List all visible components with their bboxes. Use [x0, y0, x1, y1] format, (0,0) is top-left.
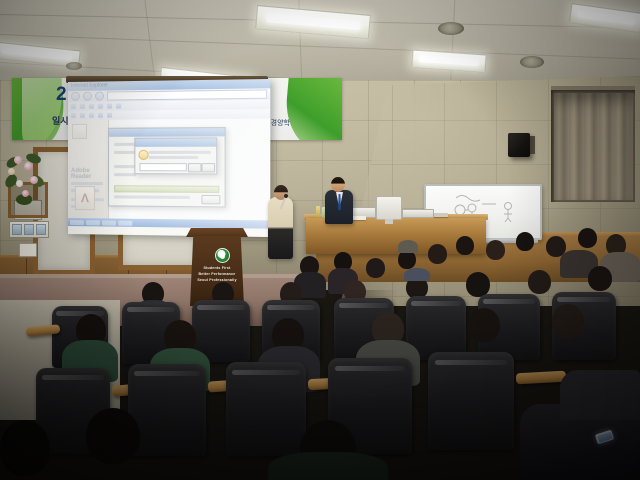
- toolbar-icon[interactable]: [107, 113, 112, 118]
- banner-subtitle: 일시: [52, 114, 69, 127]
- papers-on-desk: [434, 213, 448, 217]
- desk-monitor: [376, 196, 402, 220]
- dialog-ok-button[interactable]: [201, 195, 220, 204]
- podium-slogan-line-2: Better Performance: [190, 272, 244, 277]
- floral-arrangement: [2, 146, 48, 214]
- audience-member: [456, 236, 474, 255]
- auditorium-scene: 2 일시 술대회 학전경양학 Internet Explorer: [0, 0, 640, 480]
- browser-content-area: Adobe Reader Λ: [68, 118, 270, 228]
- toolbar-icon[interactable]: [98, 113, 103, 118]
- back-icon[interactable]: [71, 92, 80, 101]
- dialog-input-field[interactable]: [139, 163, 186, 171]
- banner-swoosh-right: [282, 78, 342, 140]
- toolbar-icon[interactable]: [89, 104, 94, 109]
- auditorium-seat: [226, 362, 306, 456]
- window-recess: [551, 90, 635, 202]
- address-bar[interactable]: [107, 89, 267, 100]
- audience-member: [428, 244, 447, 264]
- browser-window-title: Internet Explorer: [71, 81, 108, 91]
- taskbar-item[interactable]: [118, 220, 132, 225]
- security-warning-dialog[interactable]: [134, 137, 217, 174]
- adobe-reader-sidebar: Adobe Reader Λ: [68, 120, 109, 227]
- auditorium-seat: [428, 352, 514, 450]
- light-switch-bank[interactable]: [9, 221, 49, 238]
- dialog-confirm-button[interactable]: [188, 163, 202, 172]
- toolbar-icon[interactable]: [80, 104, 85, 109]
- toolbar-icon[interactable]: [116, 103, 121, 108]
- ceiling-light-fixture: [569, 3, 640, 33]
- taskbar-item[interactable]: [86, 220, 100, 225]
- ceiling-light-fixture: [411, 49, 486, 72]
- warning-icon: [138, 150, 148, 160]
- toolbar-icon[interactable]: [107, 104, 112, 109]
- audience-member: [398, 240, 418, 253]
- ceiling-vent: [520, 56, 544, 68]
- water-bottle: [316, 206, 320, 217]
- university-emblem-icon: [215, 248, 230, 263]
- adobe-reader-heading: Adobe Reader: [71, 168, 108, 180]
- dialog-progress-bar: [114, 185, 219, 193]
- banner-edition-number: 2: [56, 84, 67, 106]
- seat-armrest: [516, 371, 567, 385]
- audience-member: [366, 258, 385, 278]
- audience-member: [560, 370, 640, 420]
- audience-member: [268, 452, 388, 480]
- dialog-cancel-button[interactable]: [201, 163, 215, 172]
- audience-member: [528, 270, 551, 294]
- audience-member: [468, 308, 500, 342]
- taskbar-item[interactable]: [70, 220, 84, 225]
- audience-member: [0, 420, 50, 476]
- audience-member: [86, 408, 140, 464]
- wall-speaker-icon: [508, 133, 530, 157]
- forward-icon[interactable]: [83, 92, 92, 101]
- audience-member: [486, 240, 505, 260]
- audience-member: [404, 268, 430, 281]
- ceiling-vent: [438, 22, 464, 35]
- toolbar-icon[interactable]: [71, 113, 76, 118]
- toolbar-icon[interactable]: [80, 113, 85, 118]
- toolbar-icon[interactable]: [98, 104, 103, 109]
- av-equipment: [402, 209, 434, 218]
- audience-member: [588, 266, 612, 291]
- curtain: [554, 93, 633, 200]
- podium-slogan-line-3: Seoul Professionally: [190, 278, 244, 283]
- ceiling-light-fixture: [255, 5, 371, 39]
- toolbar-icon[interactable]: [89, 113, 94, 118]
- power-outlet: [19, 243, 37, 257]
- projection-screen: Internet Explorer: [68, 79, 270, 237]
- ceiling-vent: [66, 62, 82, 70]
- adobe-reader-icon: [72, 124, 87, 139]
- taskbar-item[interactable]: [102, 220, 116, 225]
- dialog-title-bar: [135, 138, 216, 146]
- audience-member: [578, 228, 597, 248]
- toolbar-icon[interactable]: [71, 104, 76, 109]
- audience-member: [516, 232, 534, 251]
- refresh-icon[interactable]: [95, 92, 104, 101]
- dialog-title-bar: [109, 128, 225, 137]
- audience-member: [552, 304, 584, 338]
- pdf-file-icon: Λ: [75, 186, 95, 210]
- podium-slogan-line-1: Students First: [190, 266, 244, 271]
